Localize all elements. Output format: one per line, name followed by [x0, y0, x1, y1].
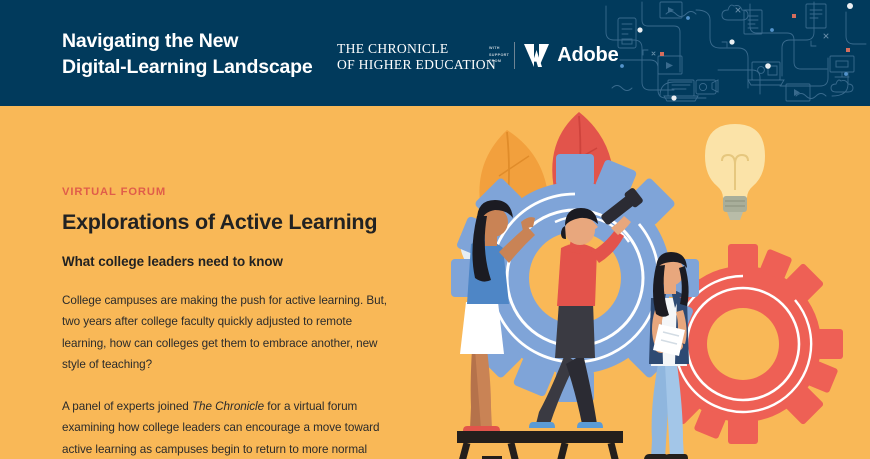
chronicle-mention: The Chronicle	[192, 400, 264, 413]
header-left-group: Navigating the New Digital-Learning Land…	[0, 0, 620, 106]
page-header: Navigating the New Digital-Learning Land…	[0, 0, 870, 106]
adobe-logo: Adobe	[523, 43, 618, 68]
chronicle-logo: THE CHRONICLE OF HIGHER EDUCATION	[337, 41, 496, 73]
tech-line-art-pattern	[600, 0, 870, 106]
paragraph-2-lead: A panel of experts joined	[62, 400, 192, 413]
sponsor-divider	[514, 42, 515, 69]
eyebrow-label: VIRTUAL FORUM	[62, 186, 392, 198]
adobe-mark-icon	[523, 43, 550, 68]
adobe-wordmark: Adobe	[557, 44, 618, 67]
body-paragraph-2: A panel of experts joined The Chronicle …	[62, 396, 392, 459]
headline: Explorations of Active Learning	[62, 210, 392, 235]
subheadline: What college leaders need to know	[62, 254, 392, 269]
with-support-from-label: WITH SUPPORT FROM	[489, 45, 514, 66]
ladder	[437, 431, 639, 459]
lightbulb-icon	[705, 124, 765, 220]
page-title: Navigating the New Digital-Learning Land…	[62, 29, 332, 81]
body-paragraph-1: College campuses are making the push for…	[62, 290, 392, 375]
sponsor-block: WITH SUPPORT FROM Adobe	[489, 40, 619, 70]
active-learning-gears-illustration	[415, 106, 870, 459]
main-content: VIRTUAL FORUM Explorations of Active Lea…	[62, 186, 392, 459]
promo-banner: Navigating the New Digital-Learning Land…	[0, 0, 870, 459]
